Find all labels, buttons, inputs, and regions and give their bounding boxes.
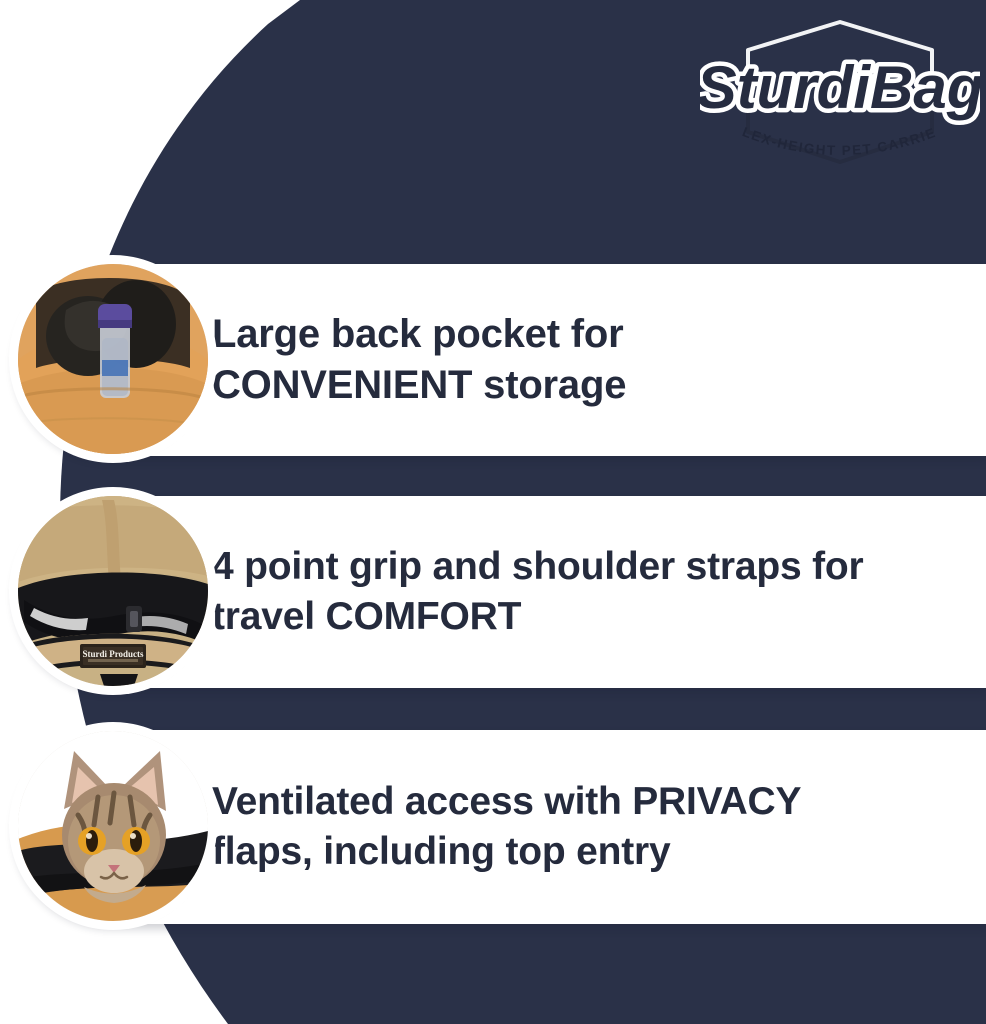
feature-text-3: Ventilated access with PRIVACY flaps, in… (212, 777, 986, 877)
feature-photo-wrap-1 (0, 262, 196, 458)
feature-line-2a: 4 point grip and shoulder straps for (212, 542, 976, 592)
feature-text-1: Large back pocket for CONVENIENT storage (212, 309, 986, 411)
feature-line-3b: flaps, including top entry (212, 827, 976, 877)
feature-card-back-pocket: Large back pocket for CONVENIENT storage (14, 264, 986, 456)
infographic-canvas: SturdiBag SturdiBag FLEX-HEIGHT PET CARR… (0, 0, 986, 1024)
feature-card-grip-straps: Sturdi Products 4 point grip and shoulde… (14, 496, 986, 688)
feature-photo-back-pocket (18, 264, 208, 454)
feature-photo-kitten (18, 731, 208, 921)
photo-label-sturdi-products: Sturdi Products (82, 649, 144, 659)
feature-line-3a: Ventilated access with PRIVACY (212, 777, 976, 827)
feature-line-1a: Large back pocket for (212, 309, 976, 360)
feature-photo-wrap-2: Sturdi Products (0, 494, 196, 690)
feature-card-ventilated-access: Ventilated access with PRIVACY flaps, in… (14, 730, 986, 924)
feature-line-1b: CONVENIENT storage (212, 360, 976, 411)
brand-logo: SturdiBag SturdiBag FLEX-HEIGHT PET CARR… (700, 16, 980, 176)
logo-wordmark: SturdiBag (700, 54, 980, 121)
feature-photo-grip-straps: Sturdi Products (18, 496, 208, 686)
feature-line-2b: travel COMFORT (212, 592, 976, 642)
feature-text-2: 4 point grip and shoulder straps for tra… (212, 542, 986, 642)
feature-photo-wrap-3 (0, 729, 196, 925)
